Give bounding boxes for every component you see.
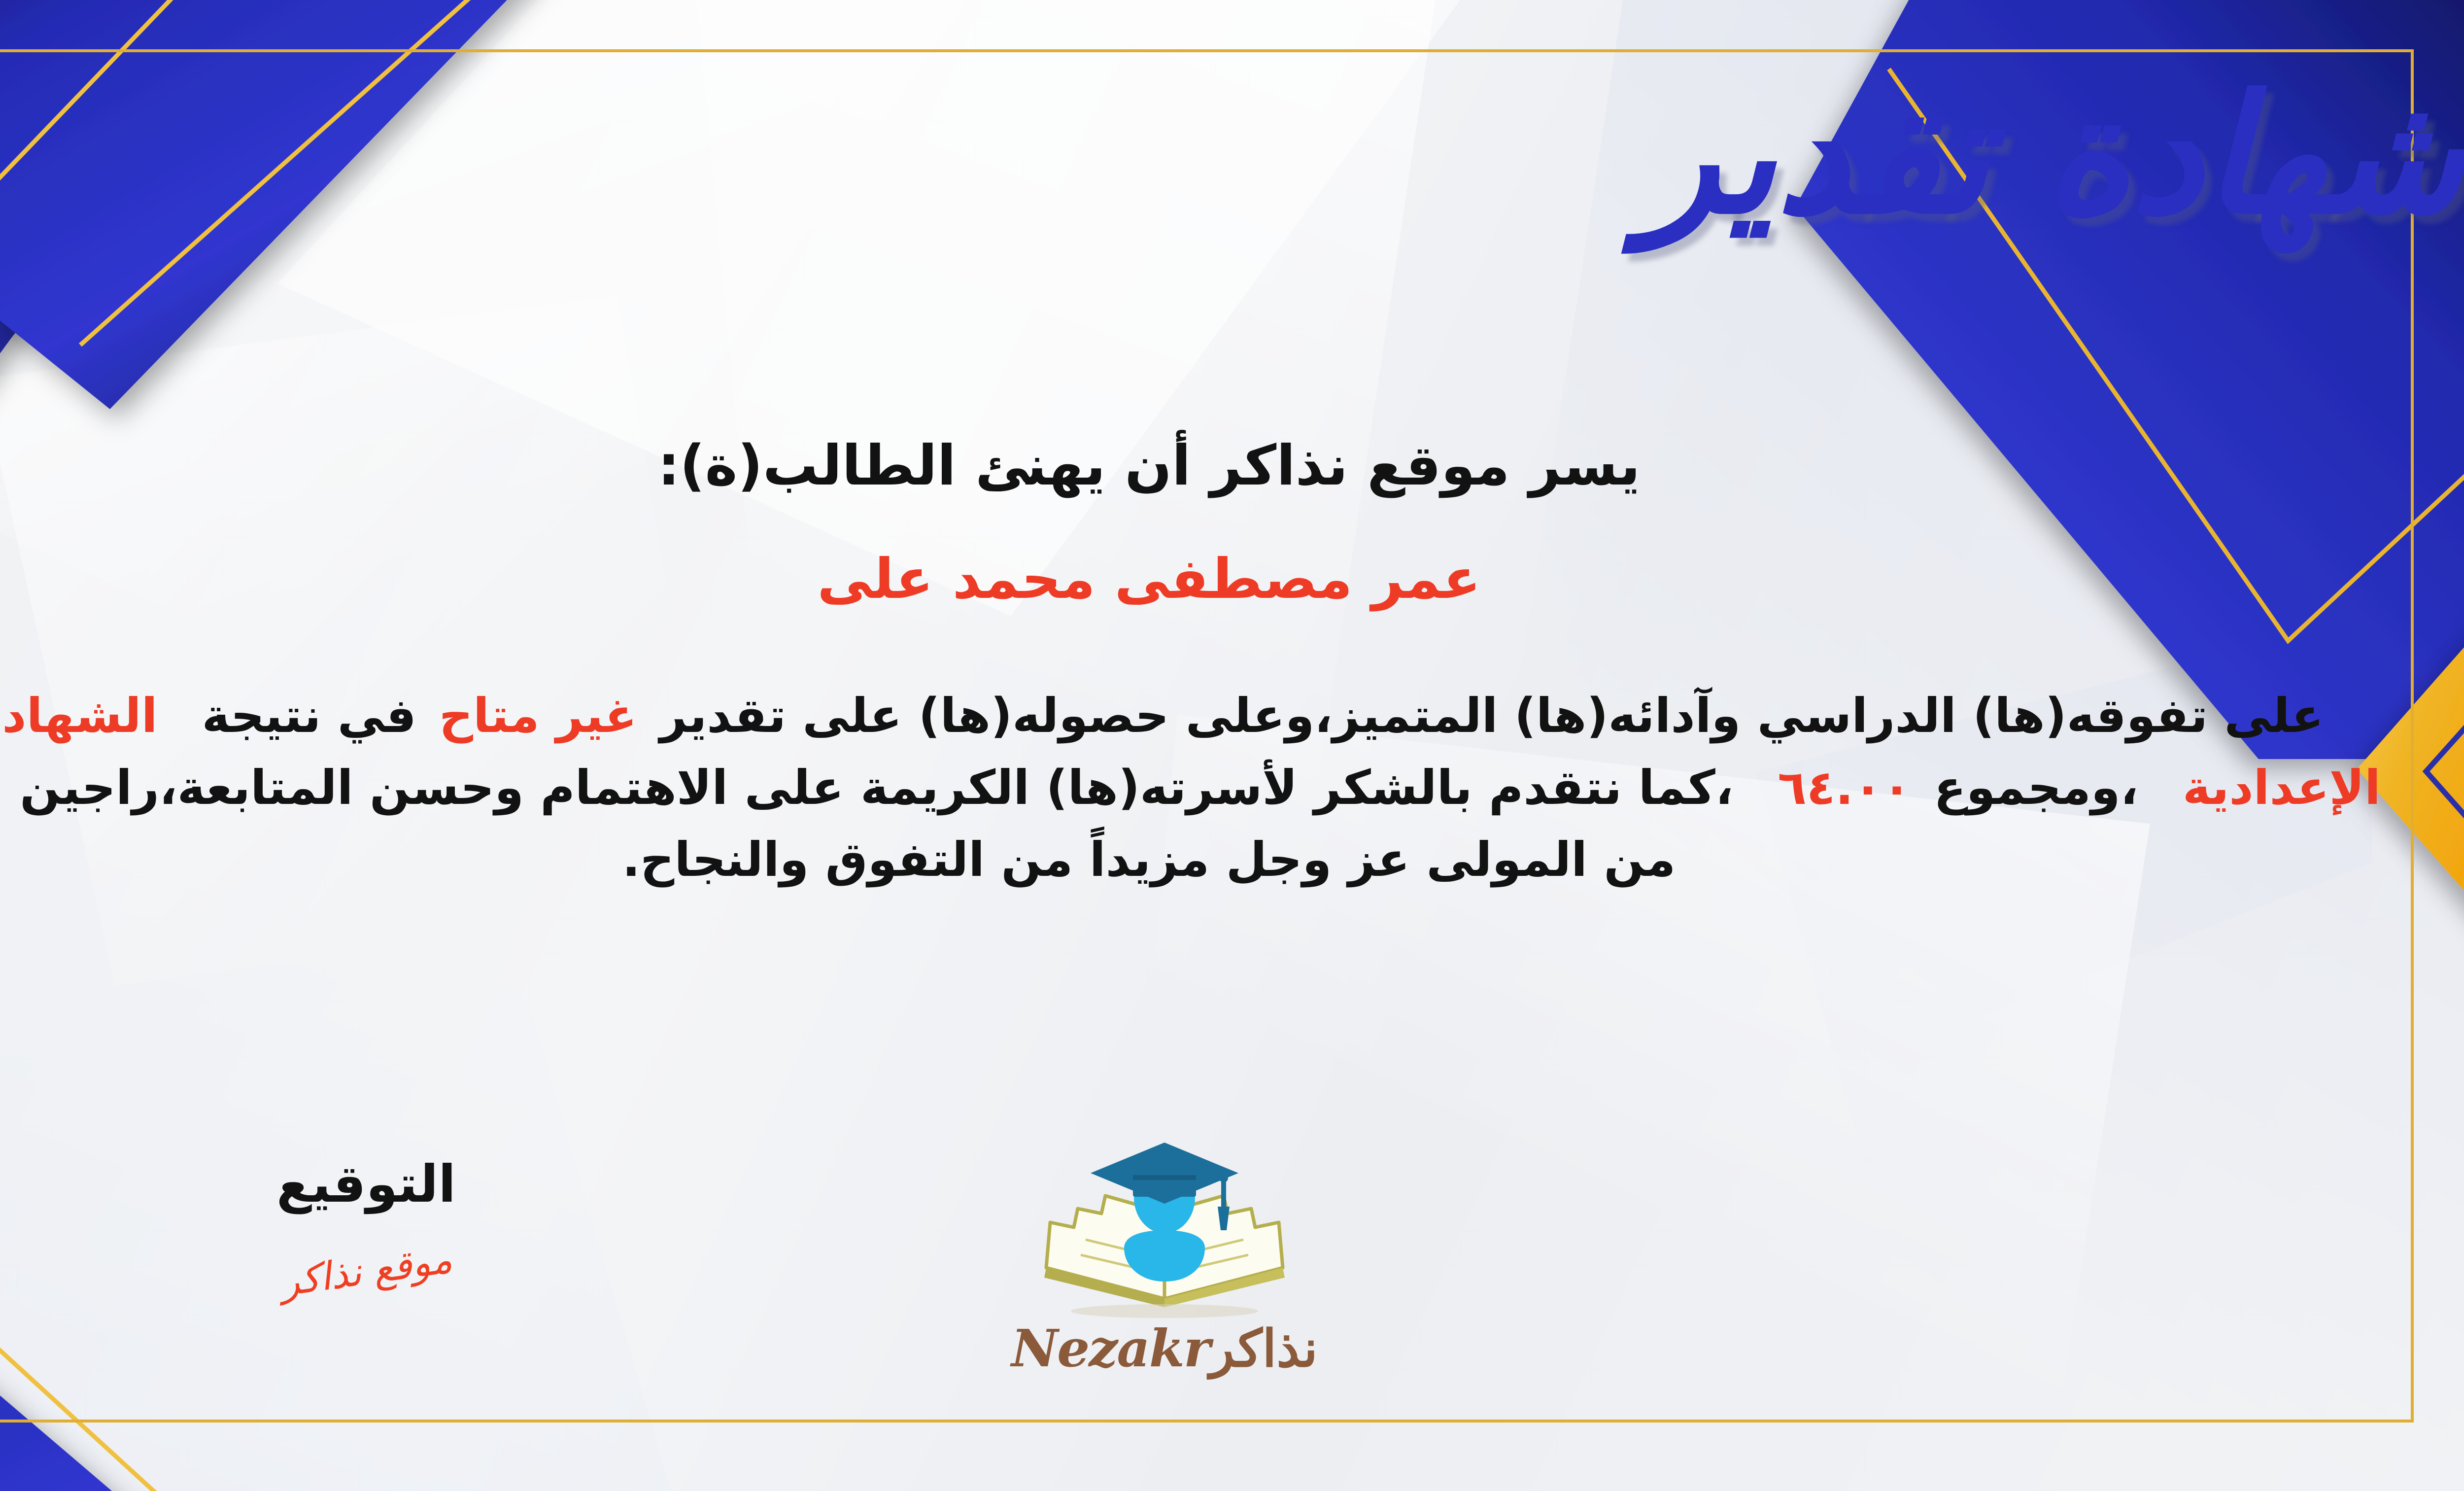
logo-graphic bbox=[1027, 1134, 1302, 1321]
citation-segment-2: في نتيجة bbox=[202, 688, 416, 743]
certificate-canvas: شهادة تقدير يسر موقع نذاكر أن يهنئ الطال… bbox=[0, 0, 2464, 1491]
citation-paragraph: على تفوقه(ها) الدراسي وآدائه(ها) المتميز… bbox=[0, 680, 2390, 896]
signature-label: التوقيع bbox=[208, 1158, 524, 1210]
citation-segment-3: ،ومجموع bbox=[1934, 760, 2138, 815]
brand-logo: نذاكرNezakr bbox=[997, 1134, 1332, 1379]
citation-segment-4: ،كما نتقدم بالشكر لأسرته(ها) الكريمة على… bbox=[0, 760, 1733, 887]
grade-value: غير متاح bbox=[439, 688, 637, 743]
citation-segment-1: على تفوقه(ها) الدراسي وآدائه(ها) المتميز… bbox=[660, 688, 2324, 743]
logo-name-arabic: نذاكر bbox=[1210, 1318, 1318, 1379]
greeting-text: يسر موقع نذاكر أن يهنئ الطالب(ة): bbox=[0, 434, 2400, 498]
signature-block: التوقيع موقع نذاكر bbox=[208, 1158, 524, 1293]
student-name: عمر مصطفى محمد على bbox=[0, 547, 2400, 611]
logo-name-latin: Nezakr bbox=[1011, 1318, 1210, 1379]
logo-wordmark: نذاكرNezakr bbox=[997, 1318, 1332, 1379]
total-score: ٦٤.٠٠ bbox=[1778, 760, 1911, 815]
certificate-title: شهادة تقدير bbox=[0, 74, 2464, 237]
